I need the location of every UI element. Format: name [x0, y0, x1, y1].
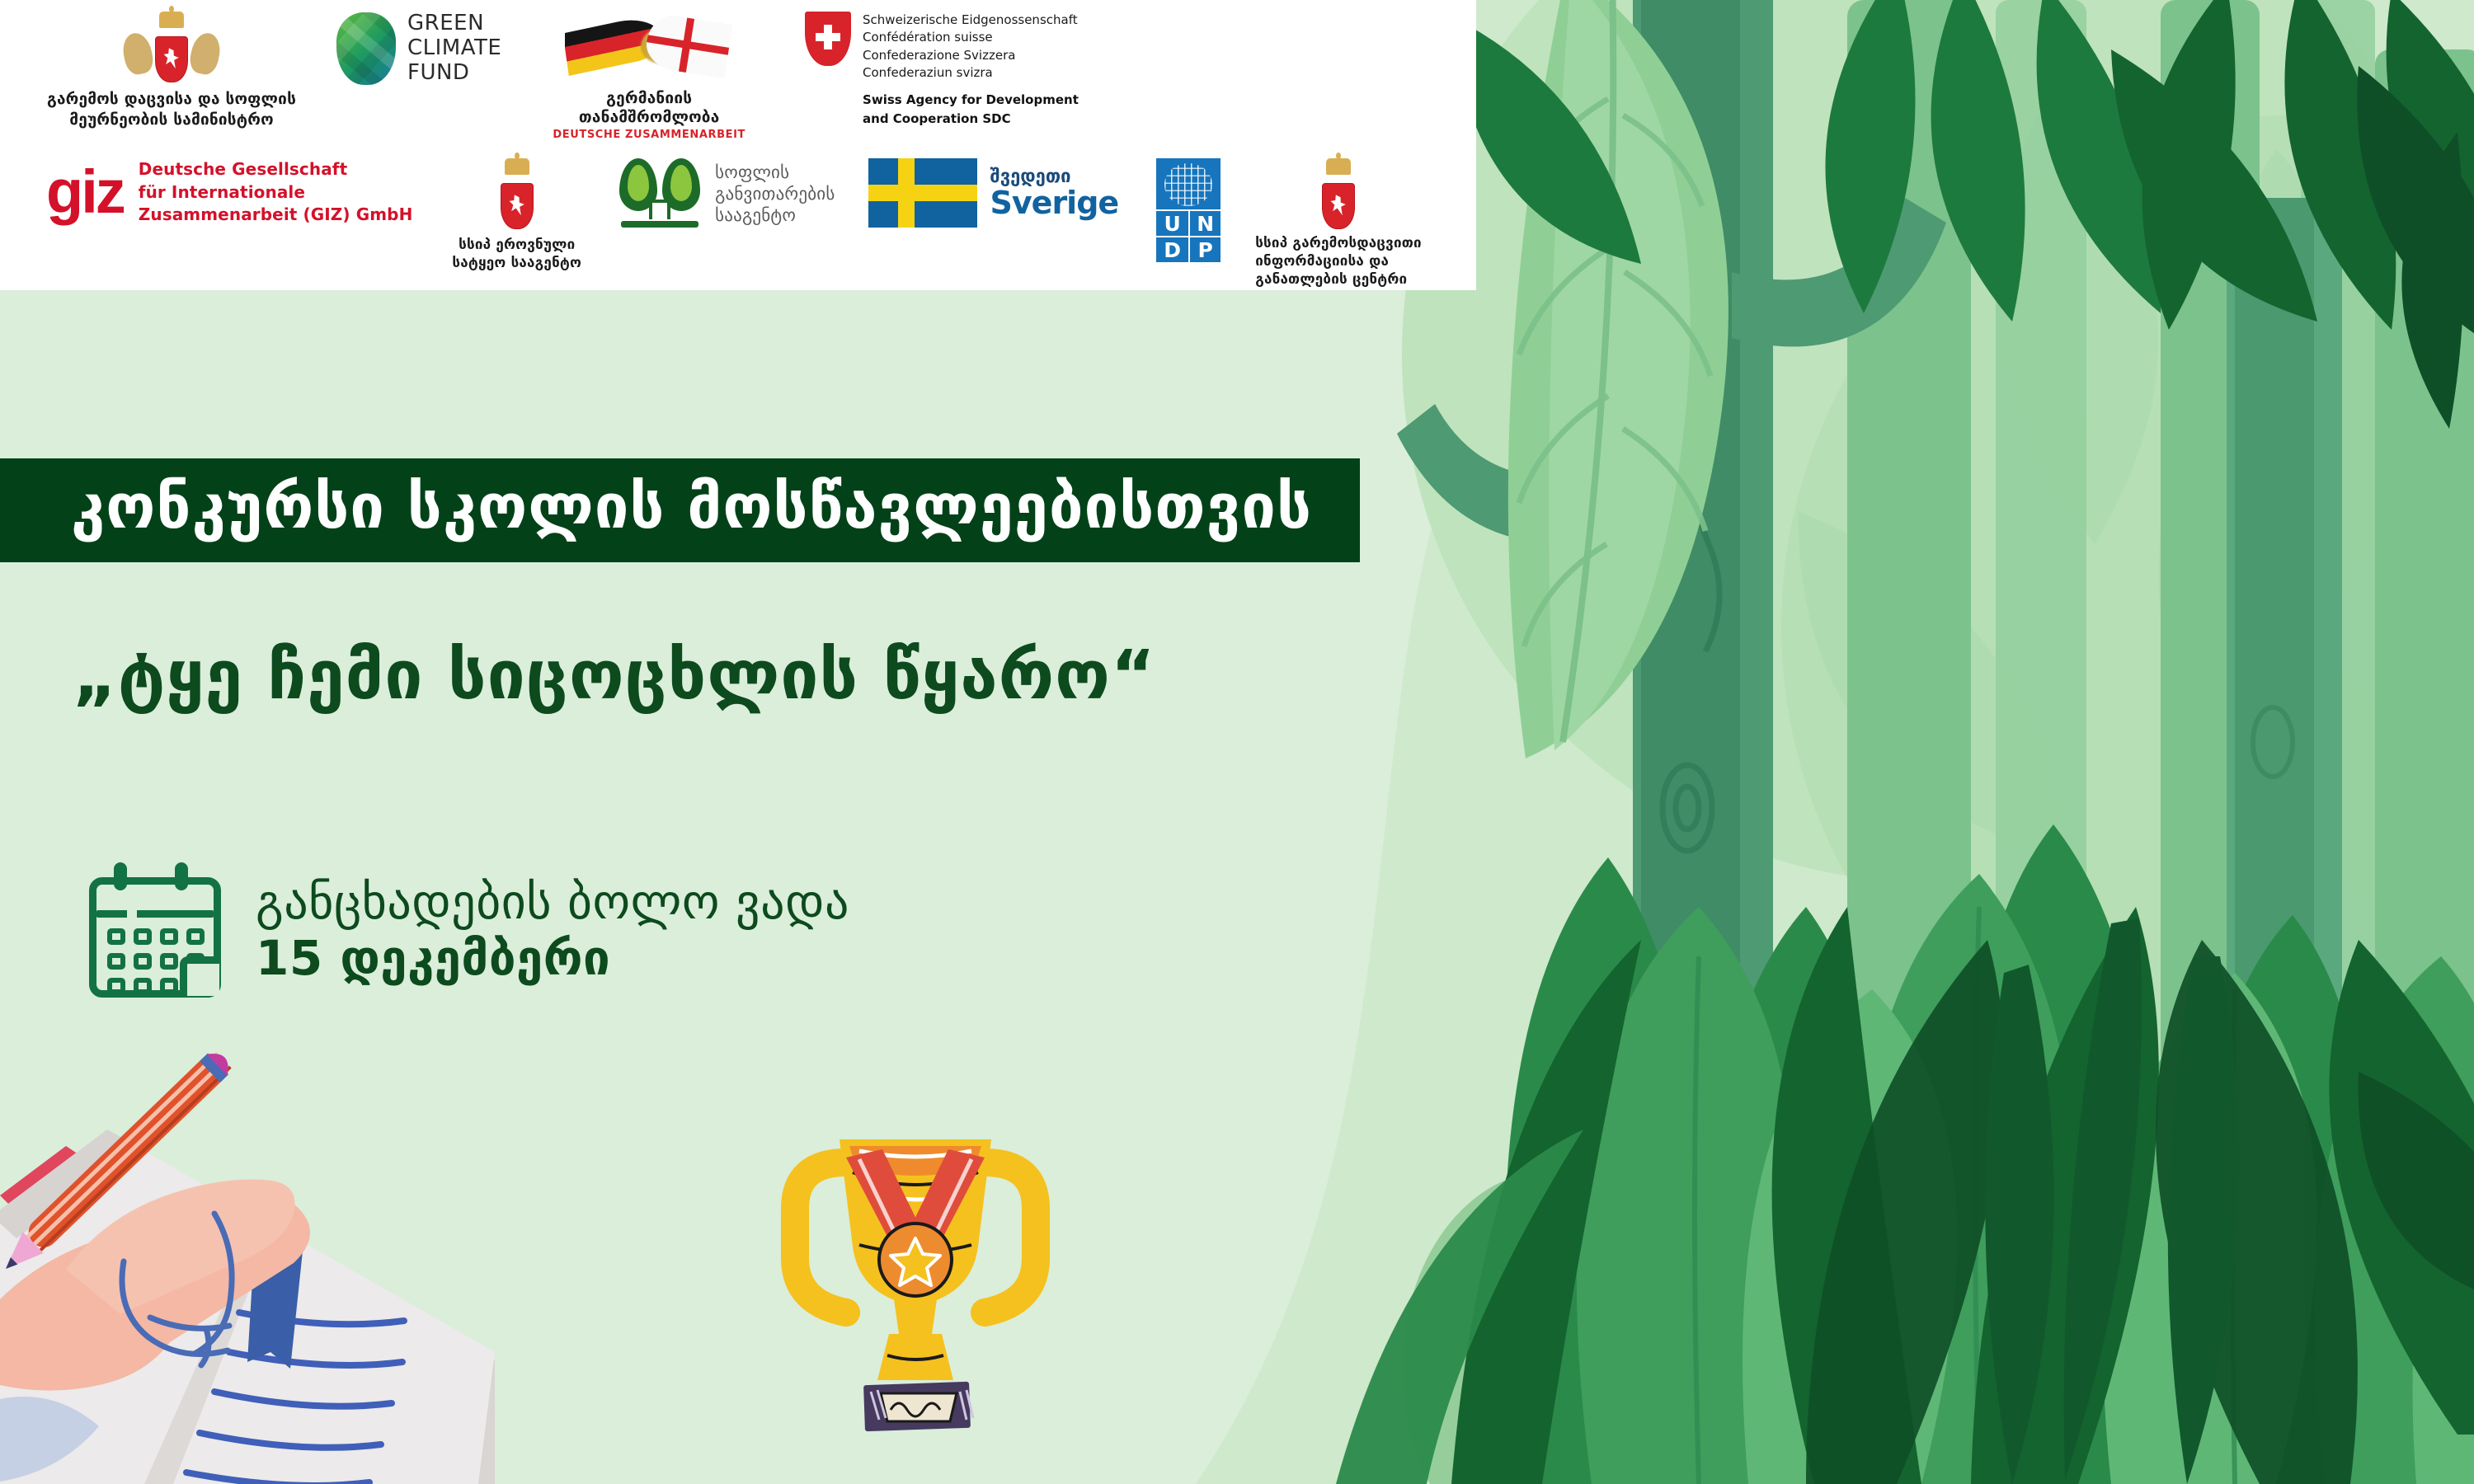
logo-environmental-info-education-center: სსიპ გარემოსდაცვითი ინფორმაციისა და განა…: [1255, 158, 1422, 289]
logo-swiss-sdc: Schweizerische Eidgenossenschaft Confédé…: [805, 12, 1079, 129]
giz-line-3: Zusammenarbeit (GIZ) GmbH: [139, 204, 413, 227]
forestry-line-1: სსიპ ეროვნული: [452, 236, 581, 254]
gcf-line-3: FUND: [407, 61, 501, 86]
hand-writing-notebook-illustration: [0, 1022, 495, 1484]
eiec-line-1: სსიპ გარემოსდაცვითი: [1255, 234, 1422, 252]
gercoop-line-1: გერმანიის: [579, 89, 720, 108]
logo-ministry-of-environment: გარემოს დაცვისა და სოფლის მეურნეობის სამ…: [48, 12, 295, 129]
gcf-line-1: GREEN: [407, 12, 501, 36]
swiss-line-3: Confederazione Svizzera: [863, 47, 1079, 64]
georgia-coat-of-arms-icon: [1313, 158, 1364, 229]
logo-rural-development-agency: სოფლის განვითარების სააგენტო: [619, 158, 835, 229]
undp-letter-n: N: [1188, 209, 1221, 236]
georgia-coat-of-arms-icon: [122, 12, 221, 82]
gercoop-subtext: DEUTSCHE ZUSAMMENARBEIT: [553, 129, 745, 141]
deadline-date: 15 დეკემბერი: [256, 930, 849, 986]
forestry-line-2: სატყეო სააგენტო: [452, 254, 581, 272]
swiss-line-1: Schweizerische Eidgenossenschaft: [863, 12, 1079, 29]
giz-line-2: für Internationale: [139, 181, 413, 204]
sdc-line-2: and Cooperation SDC: [863, 110, 1079, 128]
rural-line-1: სოფლის: [715, 162, 835, 183]
giz-line-1: Deutsche Gesellschaft: [139, 158, 413, 181]
logo-giz: giz Deutsche Gesellschaft für Internatio…: [46, 158, 412, 227]
logo-green-climate-fund: GREEN CLIMATE FUND: [336, 12, 501, 86]
logo-row-top: გარემოს დაცვისა და სოფლის მეურნეობის სამ…: [0, 12, 1476, 143]
poster-root: გარემოს დაცვისა და სოფლის მეურნეობის სამ…: [0, 0, 2474, 1484]
logo-national-forestry-agency: სსიპ ეროვნული სატყეო სააგენტო: [452, 158, 581, 272]
logo-row-bottom: giz Deutsche Gesellschaft für Internatio…: [0, 158, 1476, 278]
calendar-icon: [89, 862, 221, 998]
page-subtitle: „ტყე ჩემი სიცოცხლის წყარო“: [73, 636, 1156, 715]
ministry-line-1: გარემოს დაცვისა და სოფლის: [47, 89, 296, 110]
georgia-coat-of-arms-icon: [492, 158, 543, 229]
sdc-line-1: Swiss Agency for Development: [863, 92, 1079, 109]
sweden-flag-icon: [868, 158, 977, 228]
gcf-line-2: CLIMATE: [407, 36, 501, 61]
two-trees-house-icon: [619, 158, 700, 229]
swiss-line-4: Confederaziun svizra: [863, 64, 1079, 82]
undp-letter-d: D: [1156, 236, 1188, 262]
gercoop-line-2: თანამშრომლობა: [579, 108, 720, 127]
sweden-wordmark: Sverige: [990, 187, 1119, 218]
eiec-line-3: განათლების ცენტრი: [1255, 270, 1422, 289]
rural-line-2: განვითარების: [715, 183, 835, 204]
ministry-line-2: მეურნეობის სამინისტრო: [47, 110, 296, 130]
logo-sweden: შვედეთი Sverige: [868, 158, 1119, 228]
undp-letter-p: P: [1188, 236, 1221, 262]
gcf-gem-icon: [336, 12, 396, 85]
page-title: კონკურსი სკოლის მოსწავლეებისთვის: [71, 477, 1312, 538]
swiss-cross-shield-icon: [805, 12, 851, 66]
logo-header-panel: გარემოს დაცვისა და სოფლის მეურნეობის სამ…: [0, 0, 1476, 290]
logo-german-cooperation: გერმანიის თანამშრომლობა DEUTSCHE ZUSAMME…: [553, 12, 745, 141]
deadline-label: განცხადების ბოლო ვადა: [256, 874, 849, 930]
deadline-block: განცხადების ბოლო ვადა 15 დეკემბერი: [89, 862, 849, 998]
giz-wordmark-icon: giz: [46, 167, 124, 218]
undp-letter-u: U: [1156, 209, 1188, 236]
swiss-line-2: Confédération suisse: [863, 29, 1079, 46]
rural-line-3: სააგენტო: [715, 204, 835, 226]
logo-undp: U N D P: [1156, 158, 1221, 262]
german-georgian-flag-ribbon-icon: [565, 12, 734, 87]
page-title-banner: კონკურსი სკოლის მოსწავლეებისთვის: [0, 458, 1360, 562]
undp-globe-icon: U N D P: [1156, 158, 1221, 262]
trophy-illustration: [767, 1121, 1064, 1484]
eiec-line-2: ინფორმაციისა და: [1255, 252, 1422, 270]
